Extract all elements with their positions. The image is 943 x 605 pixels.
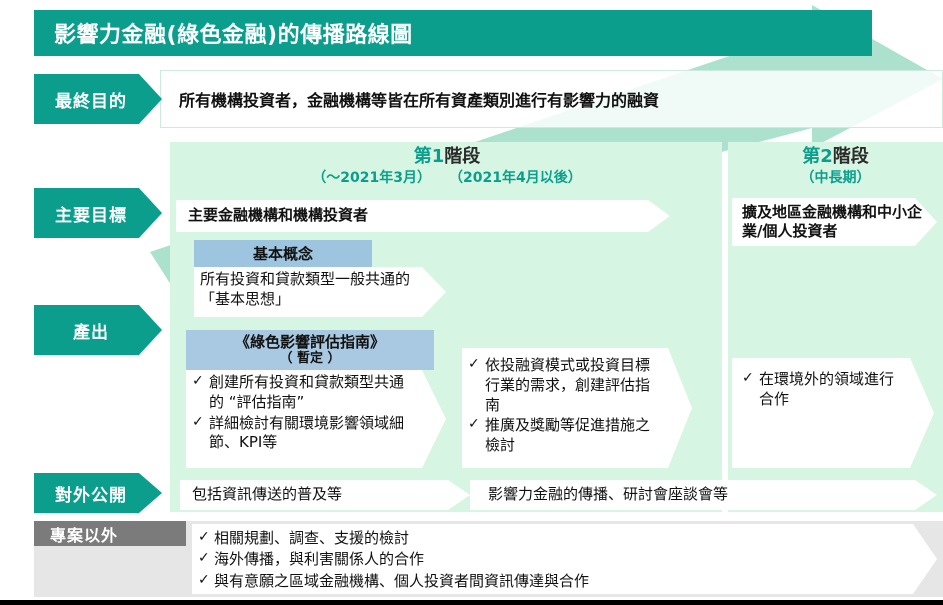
phase-1b-item-0: 依投融資模式或投資目標行業的需求，創建評估指南 <box>485 356 650 414</box>
public-disclosure-left-band: 包括資訊傳送的普及等 <box>180 480 470 510</box>
guide-heading-line-2: （ 暫定 ） <box>279 351 340 367</box>
guide-item-list: ✓ 創建所有投資和貸款類型共通的 “評估指南” ✓ 詳細檢討有關環境影響領域細節… <box>192 373 416 453</box>
outside-project-body: ✓ 相關規劃、調查、支援的檢討 ✓ 海外傳播，與利害關係人的合作 ✓ 與有意願之… <box>192 524 937 594</box>
stage-2-number: 第2 <box>802 146 833 167</box>
final-purpose-band: 所有機構投資者，金融機構等皆在所有資產類別進行有影響力的融資 <box>160 70 943 128</box>
basic-concept-body: 所有投資和貸款類型一般共通的「基本思想」 <box>194 267 446 317</box>
list-item: ✓ 相關規劃、調查、支援的檢討 <box>198 528 907 549</box>
row-label-main-goal-text: 主要目標 <box>55 201 127 226</box>
slide-bottom-rule <box>0 600 943 605</box>
check-icon: ✓ <box>192 372 204 390</box>
public-disclosure-right-band: 影響力金融的傳播、研討會座談會等 <box>470 480 937 510</box>
public-disclosure-left-text: 包括資訊傳送的普及等 <box>192 485 342 505</box>
row-label-output-text: 產出 <box>73 318 109 343</box>
row-label-public-disclosure: 對外公開 <box>34 473 162 513</box>
check-icon: ✓ <box>198 528 210 548</box>
row-label-outside-project: 專案以外 <box>34 521 186 546</box>
list-item: ✓ 在環境外的領域進行合作 <box>742 370 904 410</box>
check-icon: ✓ <box>468 415 480 433</box>
guide-item-0: 創建所有投資和貸款類型共通的 “評估指南” <box>209 373 404 411</box>
stage-1-target-text: 主要金融機構和機構投資者 <box>188 206 368 226</box>
phase-1b-item-list: ✓ 依投融資模式或投資目標行業的需求，創建評估指南 ✓ 推廣及獎勵等促進措施之檢… <box>468 356 662 456</box>
stage-2-target-band: 擴及地區金融機構和中小企業/個人投資者 <box>732 198 937 246</box>
stage-1-periods: （～2021年3月） （2021年4月以後） <box>212 170 682 187</box>
stage-2-item-0: 在環境外的領域進行合作 <box>759 370 894 408</box>
guide-heading-line-1: 《綠色影響評估指南》 <box>235 333 385 351</box>
check-icon: ✓ <box>742 369 754 387</box>
list-item: ✓ 創建所有投資和貸款類型共通的 “評估指南” <box>192 373 416 413</box>
stage-1-period-1: （～2021年3月） <box>312 170 431 187</box>
row-label-public-disclosure-text: 對外公開 <box>55 481 127 506</box>
stage-1-target-band: 主要金融機構和機構投資者 <box>176 200 670 232</box>
stage-2-output-body: ✓ 在環境外的領域進行合作 <box>732 358 934 468</box>
green-impact-guide-body: ✓ 創建所有投資和貸款類型共通的 “評估指南” ✓ 詳細檢討有關環境影響領域細節… <box>186 370 446 468</box>
public-disclosure-right-text: 影響力金融的傳播、研討會座談會等 <box>488 485 728 505</box>
row-label-outside-project-text: 專案以外 <box>50 522 118 546</box>
list-item: ✓ 海外傳播，與利害關係人的合作 <box>198 549 907 570</box>
outside-project-item-1: 海外傳播，與利害關係人的合作 <box>214 550 424 568</box>
list-item: ✓ 詳細檢討有關環境影響領域細節、KPI等 <box>192 414 416 454</box>
row-label-final-purpose: 最終目的 <box>34 74 162 124</box>
row-label-main-goal: 主要目標 <box>34 188 162 238</box>
check-icon: ✓ <box>198 571 210 591</box>
stage-1-number: 第1 <box>414 146 445 167</box>
list-item: ✓ 與有意願之區域金融機構、個人投資者間資訊傳達與合作 <box>198 571 907 592</box>
basic-concept-body-text: 所有投資和貸款類型一般共通的「基本思想」 <box>200 270 410 308</box>
outside-project-item-0: 相關規劃、調查、支援的檢討 <box>214 529 409 547</box>
row-label-final-purpose-text: 最終目的 <box>55 87 127 112</box>
guide-item-1: 詳細檢討有關環境影響領域細節、KPI等 <box>209 414 404 452</box>
basic-concept-heading: 基本概念 <box>194 240 372 267</box>
final-purpose-text: 所有機構投資者，金融機構等皆在所有資產類別進行有影響力的融資 <box>179 87 659 111</box>
basic-concept-heading-text: 基本概念 <box>253 245 313 263</box>
phase-1b-output-body: ✓ 依投融資模式或投資目標行業的需求，創建評估指南 ✓ 推廣及獎勵等促進措施之檢… <box>462 348 692 468</box>
check-icon: ✓ <box>192 413 204 431</box>
list-item: ✓ 推廣及獎勵等促進措施之檢討 <box>468 416 662 456</box>
outside-project-item-2: 與有意願之區域金融機構、個人投資者間資訊傳達與合作 <box>214 572 589 590</box>
phase-1b-item-1: 推廣及獎勵等促進措施之檢討 <box>485 416 650 454</box>
stage-1-suffix: 階段 <box>444 146 480 167</box>
stage-2-heading: 第2階段 （中長期） <box>728 146 943 187</box>
stage-2-periods: （中長期） <box>728 170 943 187</box>
check-icon: ✓ <box>198 549 210 569</box>
roadmap-slide: 影響力金融(綠色金融)的傳播路線圖 最終目的 所有機構投資者，金融機構等皆在所有… <box>0 0 943 605</box>
stage-1-heading: 第1階段 （～2021年3月） （2021年4月以後） <box>212 146 682 187</box>
stage-2-suffix: 階段 <box>833 146 869 167</box>
page-title: 影響力金融(綠色金融)的傳播路線圖 <box>34 10 872 56</box>
stage-2-period-1: （中長期） <box>801 170 871 186</box>
outside-project-item-list: ✓ 相關規劃、調查、支援的檢討 ✓ 海外傳播，與利害關係人的合作 ✓ 與有意願之… <box>198 528 907 592</box>
row-label-output: 產出 <box>34 305 162 355</box>
stage-2-heading-line: 第2階段 <box>728 146 943 168</box>
green-impact-guide-heading: 《綠色影響評估指南》 （ 暫定 ） <box>186 330 434 370</box>
stage-1-period-2: （2021年4月以後） <box>449 170 582 187</box>
stage-2-item-list: ✓ 在環境外的領域進行合作 <box>742 370 904 410</box>
check-icon: ✓ <box>468 355 480 373</box>
list-item: ✓ 依投融資模式或投資目標行業的需求，創建評估指南 <box>468 356 662 415</box>
stage-1-heading-line: 第1階段 <box>212 146 682 168</box>
stage-2-target-text: 擴及地區金融機構和中小企業/個人投資者 <box>742 203 937 242</box>
